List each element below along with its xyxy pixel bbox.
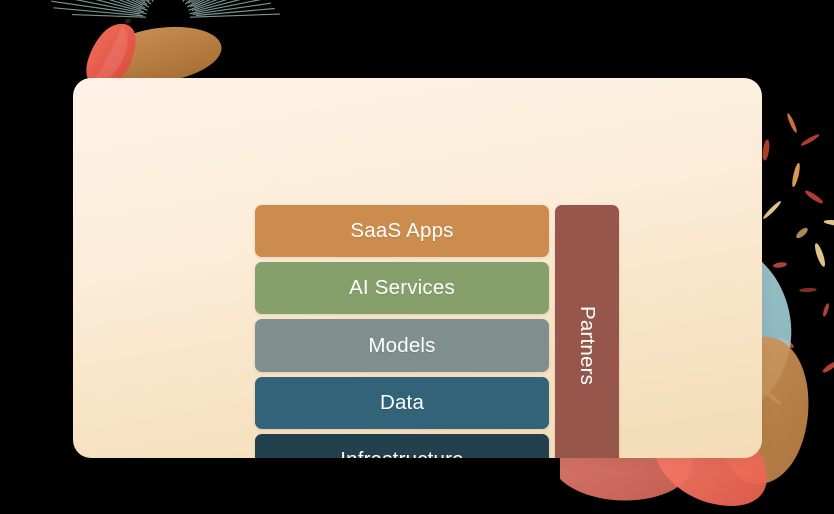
stack-diagram: SaaS Apps AI Services Models Data Infras… [255,205,619,458]
layer-label: Models [368,334,435,358]
layer-label: SaaS Apps [350,219,453,243]
layer-infrastructure[interactable]: Infrastructure [255,434,549,458]
diagram-card: SaaS Apps AI Services Models Data Infras… [73,78,762,458]
layer-label: Infrastructure [340,448,464,458]
layer-saas-apps[interactable]: SaaS Apps [255,205,549,257]
layer-data[interactable]: Data [255,377,549,429]
layer-label: Data [380,391,424,415]
layer-ai-services[interactable]: AI Services [255,262,549,314]
layer-label: AI Services [349,276,455,300]
layer-models[interactable]: Models [255,319,549,371]
partners-column[interactable]: Partners [555,205,619,458]
layer-list: SaaS Apps AI Services Models Data Infras… [255,205,549,458]
canvas: SaaS Apps AI Services Models Data Infras… [0,0,834,514]
partners-label: Partners [575,306,599,385]
